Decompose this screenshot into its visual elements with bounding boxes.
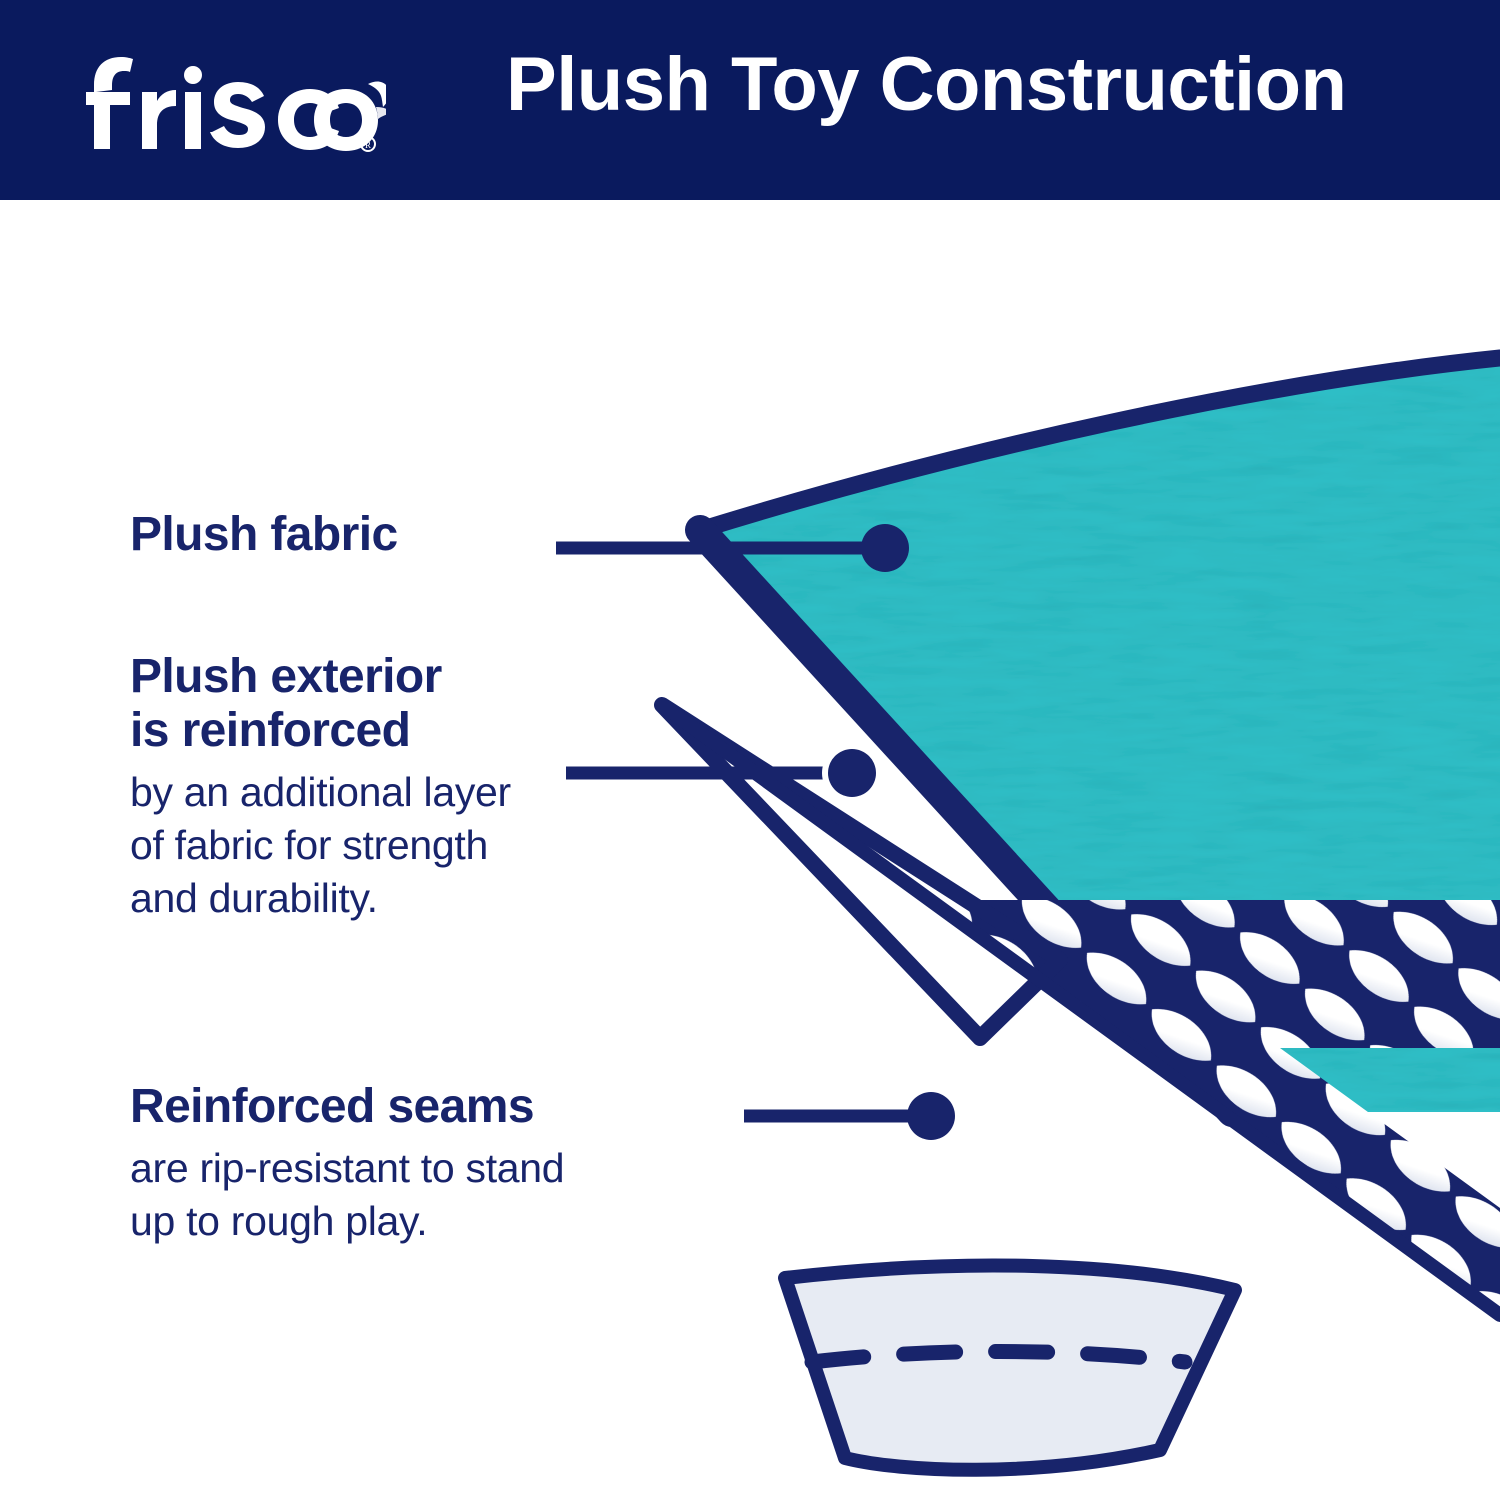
callout-body: by an additional layer of fabric for str… [130,766,710,926]
header-bar: R Plush Toy Construction [0,0,1500,200]
callout-reinforced-seams: Reinforced seams are rip-resistant to st… [130,1080,790,1248]
callout-heading: Reinforced seams [130,1080,790,1134]
page-title: Plush Toy Construction [506,47,1346,123]
infographic-page: R Plush Toy Construction [0,0,1500,1500]
callout-heading: Plush exterior is reinforced [130,650,710,758]
callout-body: are rip-resistant to stand up to rough p… [130,1142,790,1249]
callout-plush-exterior: Plush exterior is reinforced by an addit… [130,650,710,925]
seam-flap [785,1266,1235,1470]
svg-text:R: R [365,140,371,150]
frisco-logo: R [86,44,386,154]
callout-plush-fabric: Plush fabric [130,508,560,562]
callout-heading: Plush fabric [130,508,560,562]
